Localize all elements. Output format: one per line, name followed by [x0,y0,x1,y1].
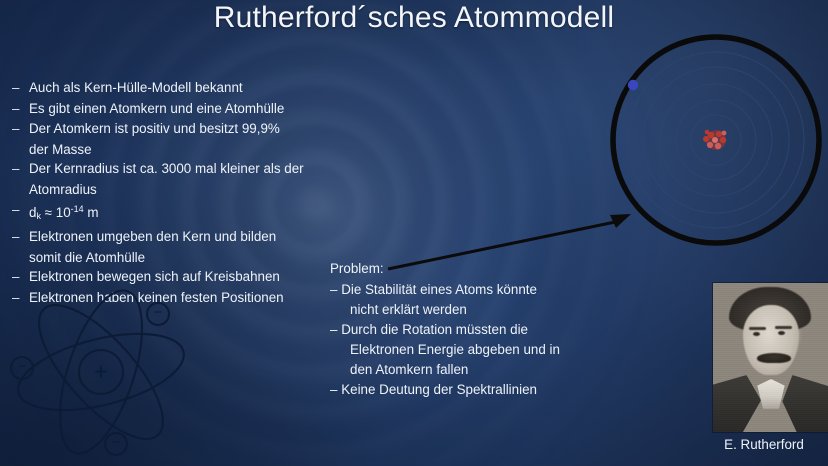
electron-minus-symbol: − [18,358,27,375]
callout-arrow [388,214,631,269]
vector-illustration-layer: + − − − [0,0,828,466]
callout-arrow-head [610,214,631,228]
nucleus-cluster [703,130,726,150]
slide-canvas: Rutherford´sches Atommodell – Auch als K… [0,0,828,466]
electron-minus-symbol: − [112,434,121,451]
photo-grain-overlay [713,283,828,432]
magnified-atom-shell-model [613,37,819,243]
nucleus-plus-symbol: + [94,358,108,385]
electron-dot [628,80,638,90]
electron-minus-symbol: − [154,304,163,321]
portrait-photo-ernest-rutherford [713,283,828,432]
portrait-caption: E. Rutherford [700,437,828,452]
callout-arrow-line [388,221,620,269]
